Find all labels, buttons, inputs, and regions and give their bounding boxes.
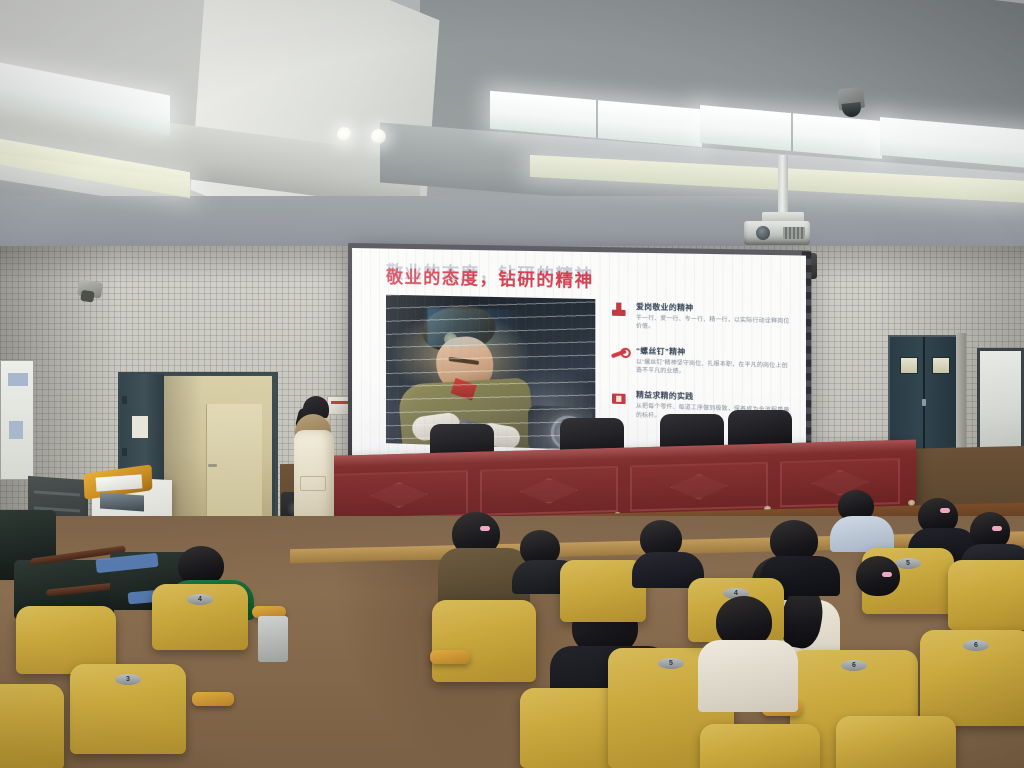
auditorium-seat[interactable] xyxy=(836,716,956,768)
desk-panel xyxy=(630,462,768,512)
auditorium-seat[interactable]: 3 xyxy=(70,664,186,754)
projector-lens-icon xyxy=(756,226,770,240)
projector-pole xyxy=(778,155,788,217)
slide-title: 敬业的态度，钻研的精神 xyxy=(386,263,594,292)
podium-monitor[interactable] xyxy=(100,492,144,511)
bullet-heading: 爱岗敬业的精神 xyxy=(636,302,791,315)
bullet-body: 以“螺丝钉”精神坚守岗位、扎根本职，在平凡的岗位上创造不平凡的业绩。 xyxy=(636,358,791,380)
projector-vent xyxy=(783,227,805,239)
projector-icon xyxy=(744,221,810,245)
corridor-wall xyxy=(206,404,262,534)
wrench-icon xyxy=(611,346,627,362)
seat-base xyxy=(258,616,288,662)
door-sign xyxy=(132,416,148,438)
seat-number: 4 xyxy=(187,594,213,605)
seat-number: 5 xyxy=(895,558,921,569)
slide-bullet: “螺丝钉”精神 以“螺丝钉”精神坚守岗位、扎根本职，在平凡的岗位上创造不平凡的业… xyxy=(611,345,791,380)
dome-camera-icon xyxy=(837,87,865,111)
seat-number: 5 xyxy=(658,658,684,669)
downlight-icon xyxy=(371,129,386,144)
auditorium-seat[interactable]: 4 xyxy=(152,584,248,650)
seat-armrest xyxy=(192,692,234,706)
door-window xyxy=(900,357,918,374)
book-icon xyxy=(611,391,627,407)
presenter-coat xyxy=(294,430,334,522)
door-handle-icon xyxy=(208,464,217,467)
seat-armrest xyxy=(430,650,470,664)
seat-number: 6 xyxy=(841,660,867,671)
downlight-icon xyxy=(337,127,352,142)
door-window xyxy=(932,357,950,374)
desk-panel xyxy=(480,466,618,516)
auditorium-seat[interactable]: 6 xyxy=(920,630,1024,726)
auditorium-seat[interactable] xyxy=(700,724,820,768)
auditorium-seat[interactable] xyxy=(0,684,64,768)
auditorium-seat[interactable] xyxy=(432,600,536,682)
seat-number: 3 xyxy=(115,674,141,685)
desk-panel xyxy=(330,470,468,520)
auditorium-scene: 敬业的态度，钻研的精神 敬业的态度，钻研的精神 爱岗敬业的精神 xyxy=(0,0,1024,768)
slide-bullet: 爱岗敬业的精神 干一行、爱一行、专一行、精一行，以实际行动诠释岗位价值。 xyxy=(611,301,791,335)
seat-number: 6 xyxy=(963,640,989,651)
notice-board xyxy=(0,360,34,480)
auditorium-seat[interactable] xyxy=(948,560,1024,630)
whiteboard xyxy=(977,348,1024,454)
wall-speaker-icon xyxy=(77,279,103,298)
medal-icon xyxy=(611,302,627,318)
bullet-body: 干一行、爱一行、专一行、精一行，以实际行动诠释岗位价值。 xyxy=(636,314,791,335)
door-handle-icon xyxy=(922,399,926,406)
